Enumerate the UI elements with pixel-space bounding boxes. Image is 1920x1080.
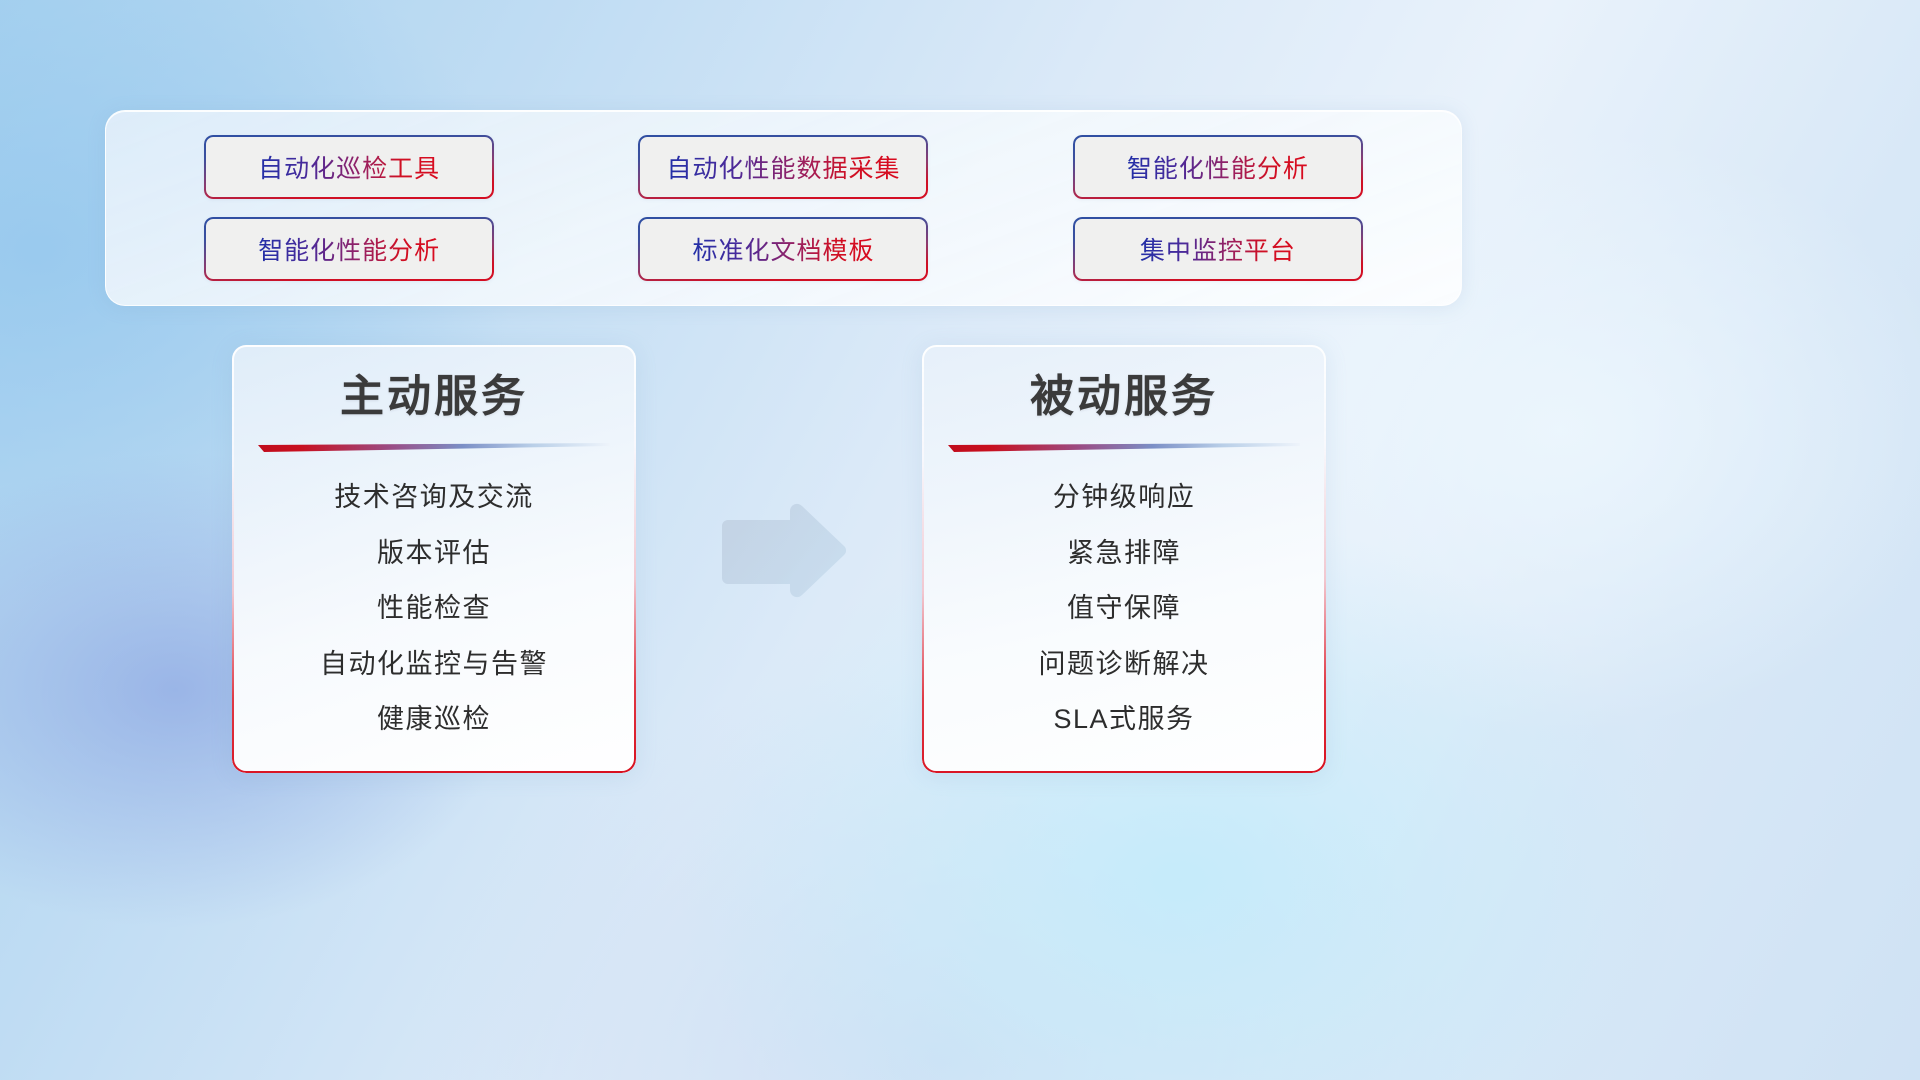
- capability-pill-label: 自动化性能数据采集: [666, 149, 900, 185]
- capability-pill[interactable]: 智能化性能分析: [204, 217, 494, 281]
- slide-canvas: 自动化巡检工具 自动化性能数据采集 智能化性能分析 智能化性能分析 标准化文档模…: [0, 0, 1920, 1080]
- list-item: SLA式服务: [1053, 701, 1194, 737]
- list-item: 健康巡检: [377, 701, 491, 737]
- active-service-list: 技术咨询及交流 版本评估 性能检查 自动化监控与告警 健康巡检: [258, 479, 610, 737]
- list-item: 版本评估: [377, 535, 491, 571]
- list-item: 问题诊断解决: [1039, 646, 1210, 682]
- capability-pill[interactable]: 自动化巡检工具: [204, 135, 494, 199]
- passive-service-card: 被动服务 分钟级响应 紧急排障 值守保障: [922, 345, 1326, 773]
- capability-pill[interactable]: 智能化性能分析: [1073, 135, 1363, 199]
- passive-service-list: 分钟级响应 紧急排障 值守保障 问题诊断解决 SLA式服务: [948, 479, 1300, 737]
- capability-pill-label: 集中监控平台: [1140, 231, 1296, 267]
- capability-pill[interactable]: 自动化性能数据采集: [638, 135, 928, 199]
- list-item: 自动化监控与告警: [320, 646, 548, 682]
- list-item: 性能检查: [377, 590, 491, 626]
- passive-service-divider: [948, 443, 1300, 455]
- list-item: 技术咨询及交流: [334, 479, 534, 515]
- capability-pill[interactable]: 集中监控平台: [1073, 217, 1363, 281]
- active-service-divider: [258, 443, 610, 455]
- capability-pill-label: 标准化文档模板: [692, 231, 874, 267]
- list-item: 值守保障: [1067, 590, 1181, 626]
- active-service-card: 主动服务 技术咨询及交流 版本评估 性能检查: [232, 345, 636, 773]
- arrow-right-icon: [716, 500, 850, 604]
- capability-pill-label: 智能化性能分析: [258, 231, 440, 267]
- list-item: 分钟级响应: [1053, 479, 1196, 515]
- list-item: 紧急排障: [1067, 535, 1181, 571]
- capability-pill-label: 智能化性能分析: [1127, 149, 1309, 185]
- capability-panel: 自动化巡检工具 自动化性能数据采集 智能化性能分析 智能化性能分析 标准化文档模…: [105, 110, 1462, 306]
- capability-pill[interactable]: 标准化文档模板: [638, 217, 928, 281]
- capability-pill-label: 自动化巡检工具: [258, 149, 440, 185]
- active-service-title: 主动服务: [258, 373, 610, 421]
- passive-service-title: 被动服务: [948, 373, 1300, 421]
